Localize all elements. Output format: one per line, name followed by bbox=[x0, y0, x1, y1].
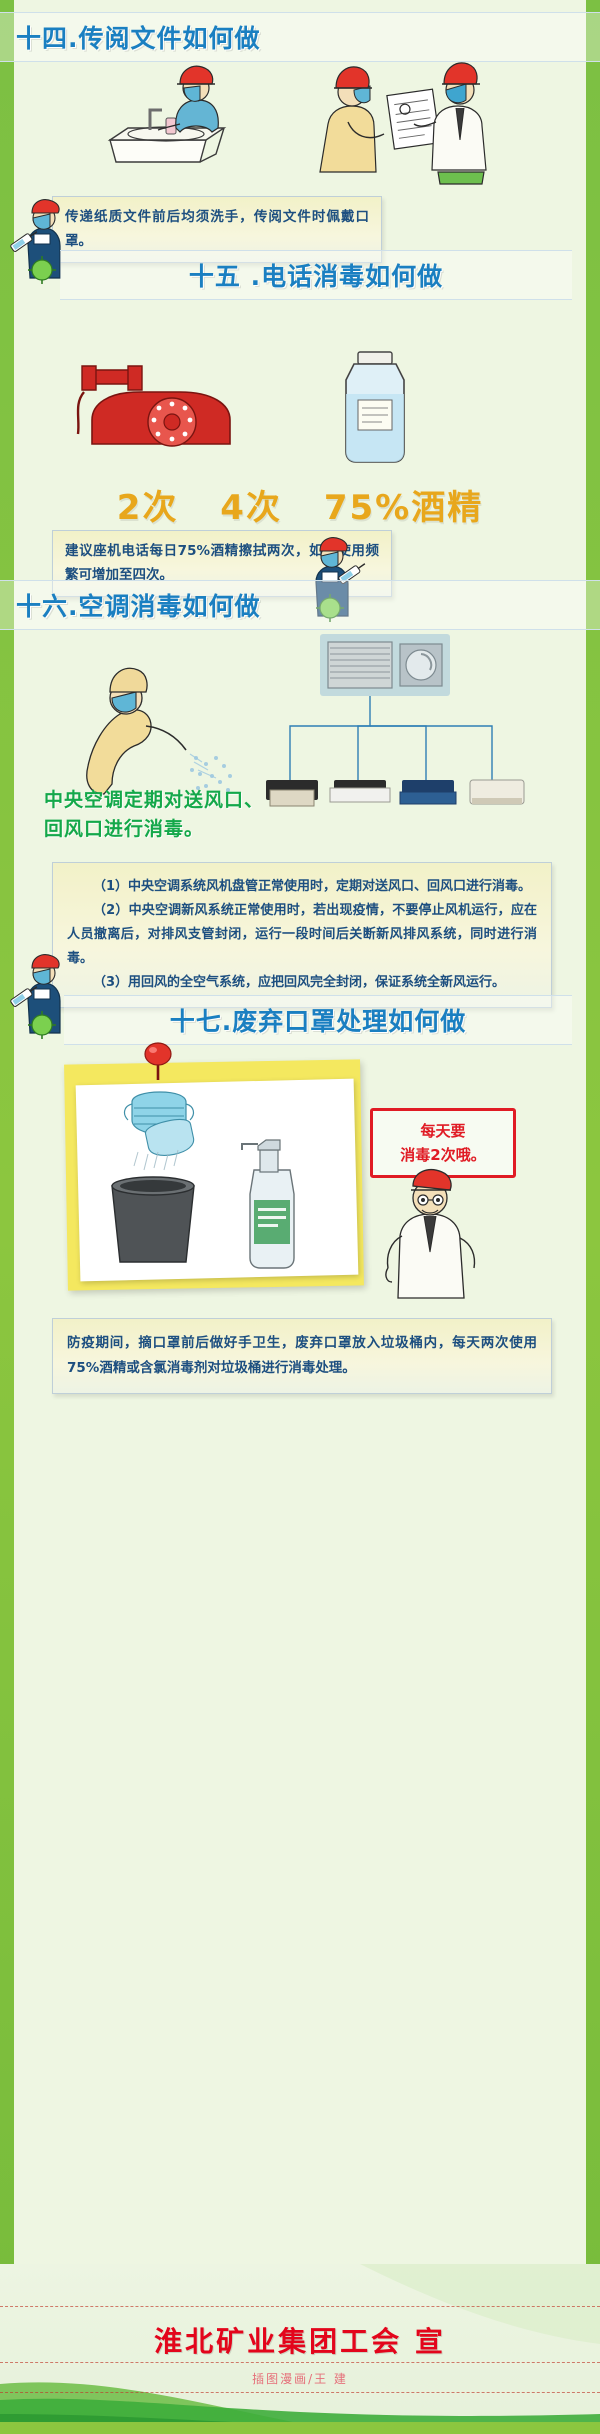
section-heading-14-label: 十四.传阅文件如何做 bbox=[0, 24, 261, 53]
caption-section-17: 防疫期间，摘口罩前后做好手卫生，废弃口罩放入垃圾桶内，每天两次使用75%酒精或含… bbox=[52, 1318, 552, 1394]
footer-divider-bottom bbox=[0, 2392, 600, 2393]
green-note-line-2: 回风口进行消毒。 bbox=[44, 815, 304, 844]
big-number-0: 2次 bbox=[117, 480, 179, 529]
section-heading-15-label: 十五 .电话消毒如何做 bbox=[189, 262, 443, 291]
red-note-line-1: 每天要 bbox=[379, 1119, 507, 1143]
section-heading-16-label: 十六.空调消毒如何做 bbox=[0, 592, 261, 621]
footer-bottom-bar bbox=[0, 2422, 600, 2434]
push-pin-icon bbox=[140, 1040, 176, 1080]
right-green-rail bbox=[586, 0, 600, 2434]
illustration-section-17 bbox=[86, 1090, 348, 1270]
caption-section-16-item-3: （3）用回风的全空气系统，应把回风完全封闭，保证系统全新风运行。 bbox=[67, 971, 537, 995]
infographic-page: 十四.传阅文件如何做 bbox=[0, 0, 600, 2434]
red-note-line-2: 消毒2次哦。 bbox=[379, 1143, 507, 1167]
green-note-line-1: 中央空调定期对送风口、 bbox=[44, 786, 304, 815]
left-green-rail bbox=[0, 0, 14, 2434]
section-heading-17-label: 十七.废弃口罩处理如何做 bbox=[170, 1007, 467, 1036]
footer: 淮北矿业集团工会 宣 插图漫画/王 建 bbox=[0, 2264, 600, 2434]
caption-section-16: （1）中央空调系统风机盘管正常使用时，定期对送风口、回风口进行消毒。 （2）中央… bbox=[52, 862, 552, 1008]
footer-divider-top bbox=[0, 2306, 600, 2307]
section-heading-15: 十五 .电话消毒如何做 bbox=[60, 250, 572, 300]
big-number-2: 75%酒精 bbox=[324, 480, 483, 529]
mascot-doctor bbox=[380, 1172, 490, 1300]
caption-section-17-text: 防疫期间，摘口罩前后做好手卫生，废弃口罩放入垃圾桶内，每天两次使用75%酒精或含… bbox=[67, 1335, 537, 1376]
caption-section-16-item-1: （1）中央空调系统风机盘管正常使用时，定期对送风口、回风口进行消毒。 bbox=[67, 875, 537, 899]
illustration-section-14 bbox=[80, 62, 520, 182]
caption-section-16-item-2: （2）中央空调新风系统正常使用时，若出现疫情，不要停止风机运行，应在人员撤离后，… bbox=[67, 899, 537, 971]
big-numbers-section-15: 2次 4次 75%酒精 bbox=[0, 480, 600, 529]
footer-divider-middle bbox=[0, 2362, 600, 2363]
section-heading-14: 十四.传阅文件如何做 bbox=[0, 12, 600, 62]
section-heading-16: 十六.空调消毒如何做 bbox=[0, 580, 600, 630]
caption-section-14-text: 传递纸质文件前后均须洗手，传阅文件时佩戴口罩。 bbox=[65, 209, 369, 249]
footer-title: 淮北矿业集团工会 宣 bbox=[0, 2320, 600, 2360]
big-number-1: 4次 bbox=[220, 480, 282, 529]
green-note-section-16: 中央空调定期对送风口、 回风口进行消毒。 bbox=[44, 786, 304, 845]
footer-credit: 插图漫画/王 建 bbox=[0, 2370, 600, 2387]
section-heading-17: 十七.废弃口罩处理如何做 bbox=[64, 995, 572, 1045]
mascot-nurse-syringe-3 bbox=[12, 955, 72, 1035]
illustration-section-15 bbox=[70, 340, 500, 470]
red-note-section-17: 每天要 消毒2次哦。 bbox=[370, 1108, 516, 1178]
